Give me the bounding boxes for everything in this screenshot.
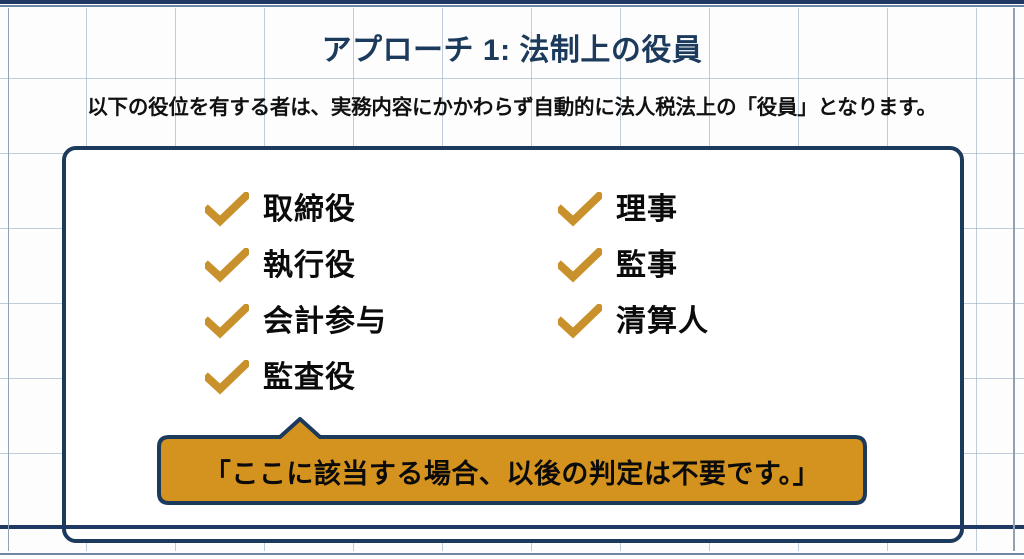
list-item: 執行役 (205, 238, 387, 294)
slide-canvas: アプローチ 1: 法制上の役員 以下の役位を有する者は、実務内容にかかわらず自動… (0, 0, 1024, 559)
check-icon (558, 248, 602, 284)
callout-text: 「ここに該当する場合、以後の判定は不要です。」 (157, 437, 867, 505)
list-item: 清算人 (558, 294, 709, 350)
officer-list-right-column: 理事 監事 清算人 (558, 182, 709, 350)
list-item-label: 清算人 (616, 307, 709, 337)
callout-bubble: 「ここに該当する場合、以後の判定は不要です。」 (157, 417, 867, 505)
frame-right-border (1013, 8, 1015, 551)
check-icon (558, 192, 602, 228)
list-item-label: 理事 (616, 195, 678, 225)
check-icon (205, 360, 249, 396)
list-item: 理事 (558, 182, 709, 238)
frame-top-border-secondary (0, 5, 1024, 7)
frame-left-border (8, 8, 9, 551)
list-item: 監事 (558, 238, 709, 294)
list-item-label: 監査役 (263, 363, 356, 393)
list-item-label: 取締役 (263, 195, 356, 225)
list-item: 取締役 (205, 182, 387, 238)
list-item: 監査役 (205, 350, 387, 406)
check-icon (558, 304, 602, 340)
page-subtitle: 以下の役位を有する者は、実務内容にかかわらず自動的に法人税法上の「役員」となりま… (0, 90, 1024, 120)
page-title: アプローチ 1: 法制上の役員 (0, 25, 1024, 69)
frame-top-border (0, 0, 1024, 4)
officer-list-left-column: 取締役 執行役 会計参与 監査役 (205, 182, 387, 406)
list-item-label: 監事 (616, 251, 678, 281)
frame-bottom-border-secondary (0, 553, 1024, 555)
list-item: 会計参与 (205, 294, 387, 350)
frame-bottom-border (0, 525, 1024, 529)
list-item-label: 執行役 (263, 251, 356, 281)
check-icon (205, 248, 249, 284)
check-icon (205, 192, 249, 228)
check-icon (205, 304, 249, 340)
list-item-label: 会計参与 (263, 307, 387, 337)
